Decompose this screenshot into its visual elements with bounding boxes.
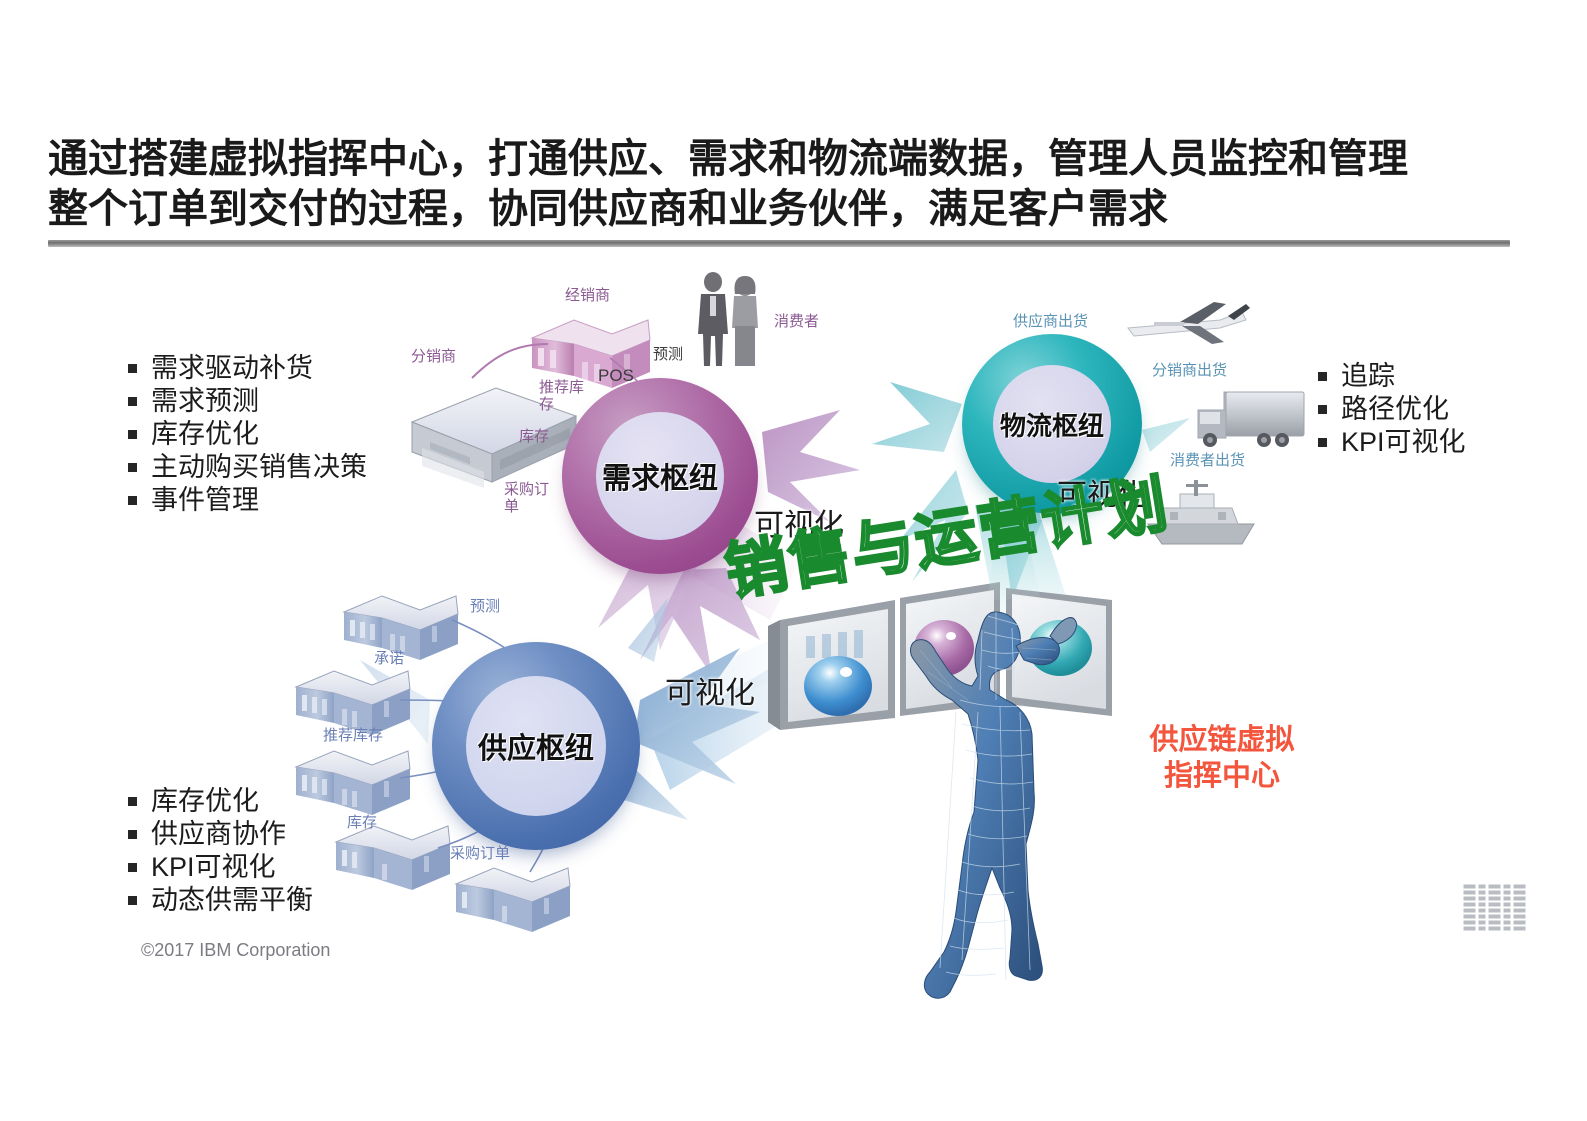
- hub-supply[interactable]: 供应枢纽: [432, 642, 640, 850]
- ibm-logo: [1461, 885, 1526, 931]
- bullet-list-demand: 需求驱动补货 需求预测 库存优化 主动购买销售决策 事件管理: [128, 352, 367, 517]
- bullet-label: 供应商协作: [151, 818, 286, 851]
- bullet-list-logistics: 追踪 路径优化 KPI可视化: [1318, 360, 1466, 459]
- bullet-square-icon: [1318, 372, 1327, 381]
- bullet-label: 事件管理: [151, 484, 259, 517]
- hub-demand-label: 需求枢纽: [602, 455, 718, 497]
- label-consumer-shipment: 消费者出货: [1170, 452, 1245, 469]
- list-item: 路径优化: [1318, 393, 1466, 426]
- label-purchase-order-demand: 采购订 单: [504, 481, 549, 515]
- hub-supply-label: 供应枢纽: [478, 725, 594, 767]
- list-item: 事件管理: [128, 484, 367, 517]
- bullet-label: 路径优化: [1341, 393, 1449, 426]
- hub-logistics-label: 物流枢纽: [1000, 406, 1104, 443]
- list-item: 需求驱动补货: [128, 352, 367, 385]
- red-callout-label: 供应链虚拟 指挥中心: [1122, 722, 1322, 794]
- label-commitment: 承诺: [374, 650, 404, 667]
- list-item: 需求预测: [128, 385, 367, 418]
- bullet-square-icon: [128, 430, 137, 439]
- list-item: 主动购买销售决策: [128, 451, 367, 484]
- ibm-logo-row: [1464, 885, 1476, 931]
- list-item: KPI可视化: [1318, 426, 1466, 459]
- bullet-square-icon: [128, 830, 137, 839]
- ibm-logo-row: [1479, 885, 1486, 931]
- bullet-square-icon: [128, 496, 137, 505]
- label-forecast-supply: 预测: [470, 598, 500, 615]
- bullet-label: 库存优化: [151, 418, 259, 451]
- label-distributor-shipment: 分销商出货: [1152, 362, 1227, 379]
- label-supplier-shipment: 供应商出货: [1013, 313, 1088, 330]
- factory-building-icon: [336, 826, 450, 890]
- bullet-label: 追踪: [1341, 360, 1395, 393]
- footer-copyright: ©2017 IBM Corporation: [141, 940, 330, 961]
- factory-building-icon: [296, 671, 410, 735]
- factory-building-icon: [296, 751, 410, 815]
- visibility-label-supply: 可视化: [665, 668, 755, 712]
- bullet-list-supply: 库存优化 供应商协作 KPI可视化 动态供需平衡: [128, 785, 313, 917]
- label-forecast-demand: 预测: [653, 346, 683, 363]
- bullet-square-icon: [128, 797, 137, 806]
- label-dealer: 经销商: [565, 287, 610, 304]
- slide-canvas: 通过搭建虚拟指挥中心，打通供应、需求和物流端数据，管理人员监控和管理 整个订单到…: [0, 0, 1587, 1121]
- label-inventory-supply: 库存: [347, 814, 377, 831]
- bullet-square-icon: [128, 896, 137, 905]
- ibm-logo-row: [1504, 885, 1511, 931]
- bullet-square-icon: [128, 463, 137, 472]
- truck-icon: [1198, 392, 1304, 447]
- bullet-square-icon: [128, 364, 137, 373]
- hub-supply-inner: 供应枢纽: [466, 676, 606, 816]
- bullet-label: KPI可视化: [151, 851, 276, 884]
- factory-building-icon: [456, 868, 570, 932]
- bullet-square-icon: [128, 863, 137, 872]
- label-consumer: 消费者: [774, 313, 819, 330]
- label-inventory-demand: 库存: [519, 428, 549, 445]
- bullet-square-icon: [1318, 405, 1327, 414]
- bullet-square-icon: [128, 397, 137, 406]
- bullet-square-icon: [1318, 438, 1327, 447]
- airplane-icon: [1128, 302, 1250, 344]
- people-pair-icon: [698, 272, 758, 366]
- list-item: 库存优化: [128, 785, 313, 818]
- list-item: 库存优化: [128, 418, 367, 451]
- label-purchase-order-supply: 采购订单: [450, 845, 510, 862]
- bullet-label: 需求预测: [151, 385, 259, 418]
- label-recommended-inventory-demand: 推荐库 存: [539, 379, 584, 413]
- ibm-logo-row: [1514, 885, 1526, 931]
- bullet-label: 主动购买销售决策: [151, 451, 367, 484]
- list-item: 追踪: [1318, 360, 1466, 393]
- bullet-label: 需求驱动补货: [151, 352, 313, 385]
- list-item: 供应商协作: [128, 818, 313, 851]
- label-recommended-inventory-supply: 推荐库存: [323, 727, 383, 744]
- label-pos: POS: [598, 367, 634, 384]
- monitor-wall-icon: [768, 582, 1112, 730]
- bullet-label: 动态供需平衡: [151, 884, 313, 917]
- label-distributor: 分销商: [411, 348, 456, 365]
- ibm-logo-row: [1489, 885, 1501, 931]
- list-item: 动态供需平衡: [128, 884, 313, 917]
- list-item: KPI可视化: [128, 851, 313, 884]
- bullet-label: KPI可视化: [1341, 426, 1466, 459]
- hub-demand-inner: 需求枢纽: [596, 412, 724, 540]
- bullet-label: 库存优化: [151, 785, 259, 818]
